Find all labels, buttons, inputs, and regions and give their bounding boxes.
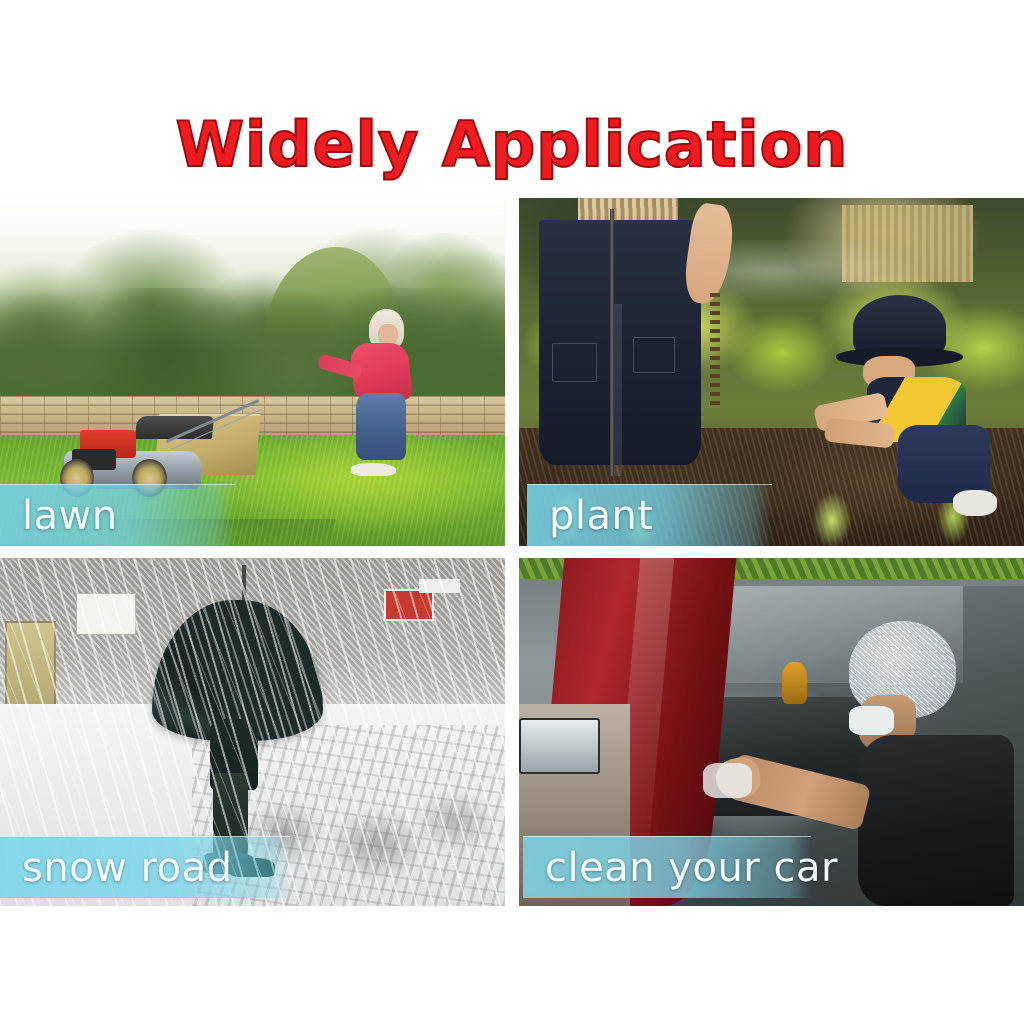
application-collage-grid: lawn bbox=[0, 198, 1024, 906]
caption-banner-clean-your-car: clean your car bbox=[523, 836, 811, 898]
worker-shirt bbox=[858, 735, 1014, 906]
lawn-mower bbox=[56, 393, 258, 497]
caption-label-snow-road: snow road bbox=[22, 845, 233, 891]
adult-leg-gap bbox=[614, 304, 622, 477]
garden-child bbox=[822, 295, 994, 511]
page-title-container: Widely Application bbox=[0, 108, 1024, 181]
child-shoe bbox=[953, 490, 998, 516]
caption-banner-lawn: lawn bbox=[0, 484, 235, 546]
panel-clean-your-car[interactable]: clean your car bbox=[519, 558, 1024, 906]
page-title: Widely Application bbox=[176, 108, 849, 181]
caption-label-lawn: lawn bbox=[22, 493, 118, 539]
caption-label-clean-your-car: clean your car bbox=[545, 845, 838, 891]
falling-soil bbox=[710, 293, 720, 410]
building-door bbox=[5, 621, 56, 711]
panel-lawn[interactable]: lawn bbox=[0, 198, 505, 546]
garden-adult bbox=[539, 198, 701, 476]
adult-pocket-right bbox=[633, 337, 675, 373]
garden-tool-handle bbox=[610, 209, 614, 476]
panel-snow-road[interactable]: snow road bbox=[0, 558, 505, 906]
product-image-page: Widely Application bbox=[0, 0, 1024, 1024]
worker-face-mask bbox=[849, 706, 893, 735]
panel-plant[interactable]: plant bbox=[519, 198, 1024, 546]
caption-banner-snow-road: snow road bbox=[0, 836, 290, 898]
person-shoe bbox=[351, 463, 396, 476]
adult-pocket-left bbox=[552, 343, 597, 382]
lawn-person bbox=[343, 309, 419, 476]
car-side-mirror bbox=[519, 718, 600, 774]
caption-banner-plant: plant bbox=[527, 484, 772, 546]
street-sign-white bbox=[419, 579, 459, 593]
caption-label-plant: plant bbox=[549, 493, 654, 539]
snow-pedestrian bbox=[152, 600, 324, 871]
person-jeans bbox=[356, 393, 406, 460]
cleaning-cloth bbox=[703, 763, 752, 797]
street-sign-red bbox=[384, 589, 435, 620]
building-window bbox=[76, 593, 137, 635]
